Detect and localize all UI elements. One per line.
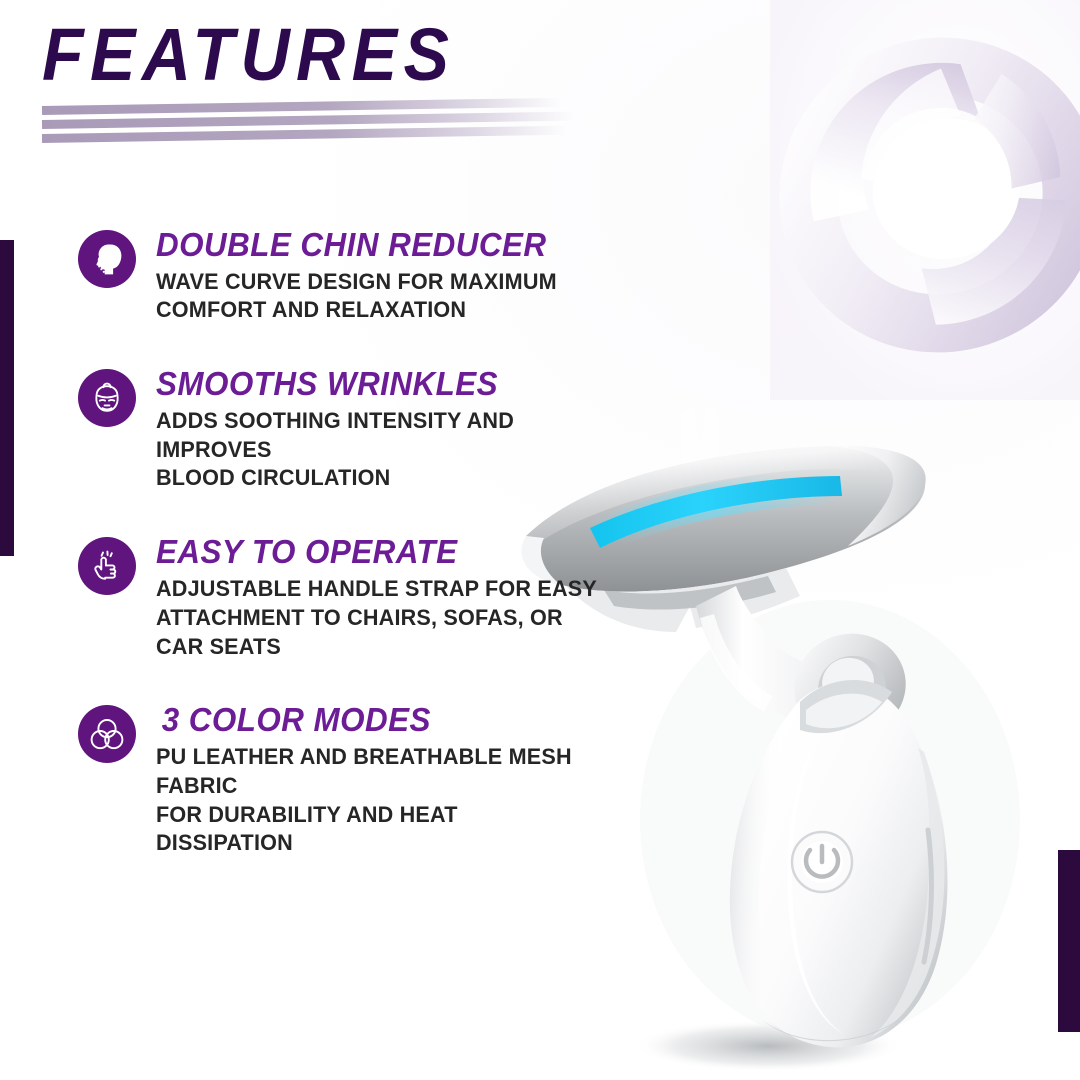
tapping-hand-icon <box>78 537 136 595</box>
rule-line-3 <box>42 126 566 143</box>
feature-heading: SMOOTHS WRINKLES <box>156 367 595 402</box>
right-accent-bar <box>1058 850 1080 1032</box>
feature-poster: FEATURES <box>0 0 1080 1080</box>
page-title: FEATURES <box>42 18 631 92</box>
feature-text: DOUBLE CHIN REDUCER WAVE CURVE DESIGN FO… <box>156 228 574 325</box>
swirl-decoration <box>770 0 1080 400</box>
feature-item: SMOOTHS WRINKLES ADDS SOOTHING INTENSITY… <box>78 367 618 493</box>
title-block: FEATURES <box>42 18 682 148</box>
three-overlapping-circles-icon <box>78 705 136 763</box>
face-profile-chin-icon <box>78 230 136 288</box>
title-underline-rules <box>42 104 642 148</box>
feature-body: WAVE CURVE DESIGN FOR MAXIMUM COMFORT AN… <box>156 268 557 326</box>
feature-list: DOUBLE CHIN REDUCER WAVE CURVE DESIGN FO… <box>78 228 618 858</box>
feature-body: ADDS SOOTHING INTENSITY AND IMPROVES BLO… <box>156 407 600 493</box>
feature-item: 3 COLOR MODES PU LEATHER AND BREATHABLE … <box>78 703 618 858</box>
feature-text: SMOOTHS WRINKLES ADDS SOOTHING INTENSITY… <box>156 367 618 493</box>
feature-item: DOUBLE CHIN REDUCER WAVE CURVE DESIGN FO… <box>78 228 618 325</box>
feature-body: PU LEATHER AND BREATHABLE MESH FABRIC FO… <box>156 743 600 858</box>
feature-text: 3 COLOR MODES PU LEATHER AND BREATHABLE … <box>156 703 618 858</box>
left-accent-bar <box>0 240 14 556</box>
feature-heading: DOUBLE CHIN REDUCER <box>156 228 553 263</box>
feature-body: ADJUSTABLE HANDLE STRAP FOR EASY ATTACHM… <box>156 575 600 661</box>
feature-text: EASY TO OPERATE ADJUSTABLE HANDLE STRAP … <box>156 535 618 661</box>
feature-heading: 3 COLOR MODES <box>156 703 595 738</box>
feature-heading: EASY TO OPERATE <box>156 535 595 570</box>
feature-item: EASY TO OPERATE ADJUSTABLE HANDLE STRAP … <box>78 535 618 661</box>
wrinkled-face-icon <box>78 369 136 427</box>
product-watermark-logo <box>660 398 750 508</box>
